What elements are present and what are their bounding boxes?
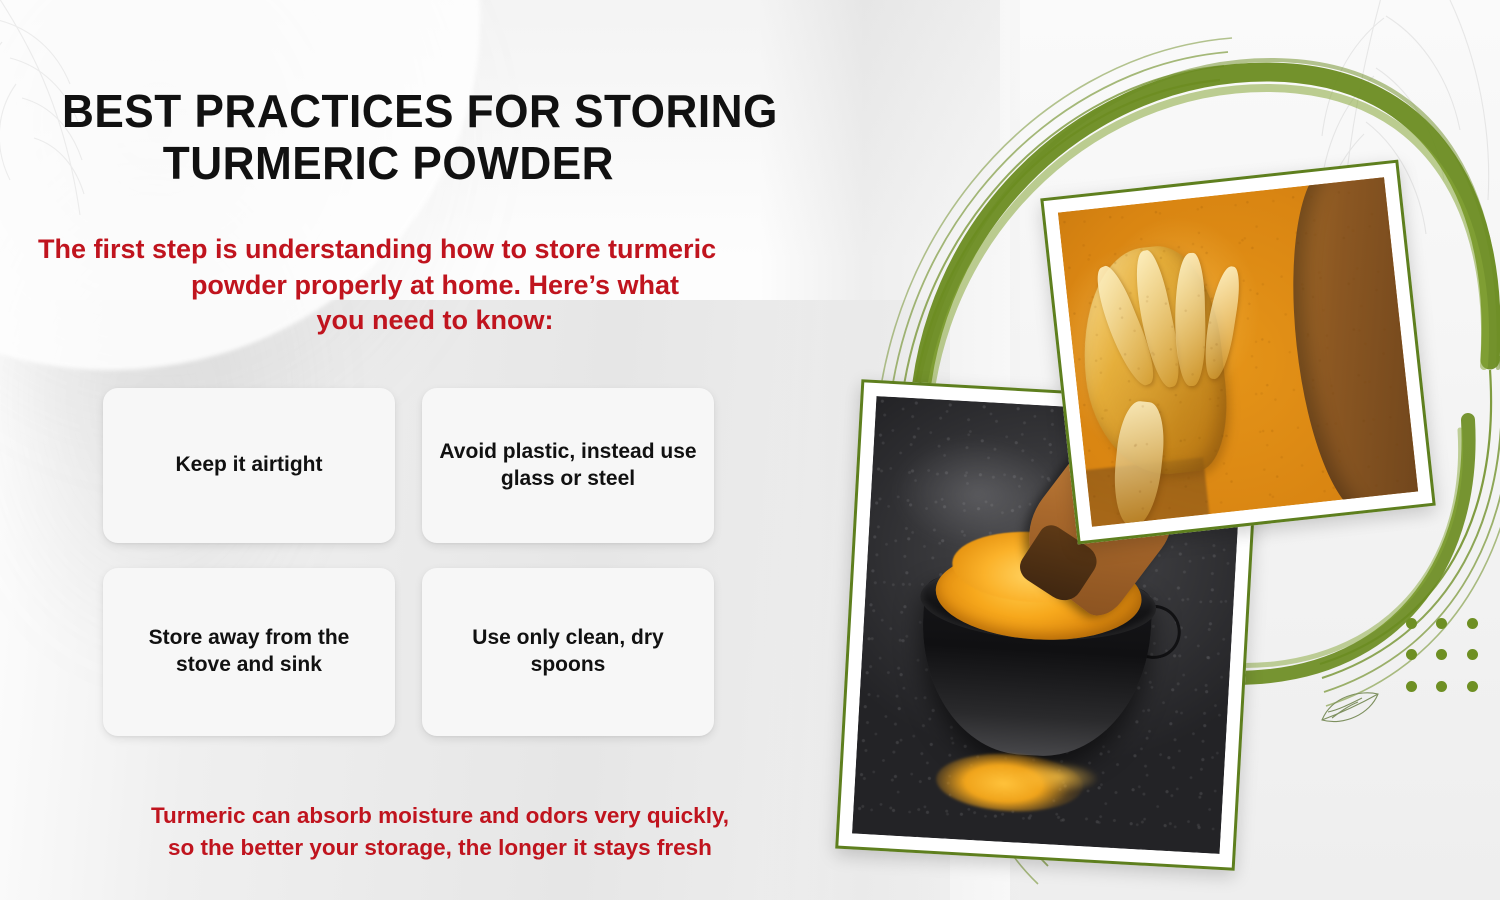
subheading: The first step is understanding how to s… bbox=[30, 232, 840, 339]
tip-card-label: Store away from the stove and sink bbox=[119, 625, 379, 679]
tip-card-label: Use only clean, dry spoons bbox=[438, 625, 698, 679]
tip-card-label: Avoid plastic, instead use glass or stee… bbox=[438, 439, 698, 493]
page-title-line-1: BEST PRACTICES FOR STORING bbox=[62, 86, 820, 138]
page-title-line-2: TURMERIC POWDER bbox=[62, 138, 820, 190]
subheading-line-2: powder properly at home. Here’s what bbox=[30, 268, 840, 304]
tip-card[interactable]: Avoid plastic, instead use glass or stee… bbox=[422, 388, 714, 543]
subheading-line-1: The first step is understanding how to s… bbox=[30, 232, 840, 268]
tip-card[interactable]: Keep it airtight bbox=[103, 388, 395, 543]
tip-card-label: Keep it airtight bbox=[175, 452, 322, 479]
photo-turmeric-wooden-bowl-image bbox=[1058, 177, 1418, 527]
footnote-line-1: Turmeric can absorb moisture and odors v… bbox=[40, 800, 840, 832]
leaf-outline-icon bbox=[1318, 688, 1382, 728]
infographic-canvas: BEST PRACTICES FOR STORING TURMERIC POWD… bbox=[0, 0, 1500, 900]
subheading-line-3: you need to know: bbox=[30, 303, 840, 339]
dot-grid-decoration bbox=[1406, 618, 1478, 692]
tip-card[interactable]: Use only clean, dry spoons bbox=[422, 568, 714, 736]
photo-turmeric-wooden-bowl bbox=[1040, 160, 1435, 545]
tips-card-grid: Keep it airtight Avoid plastic, instead … bbox=[103, 388, 718, 736]
footnote-line-2: so the better your storage, the longer i… bbox=[40, 832, 840, 864]
page-title: BEST PRACTICES FOR STORING TURMERIC POWD… bbox=[62, 86, 820, 189]
tip-card[interactable]: Store away from the stove and sink bbox=[103, 568, 395, 736]
artwork-area bbox=[800, 0, 1500, 900]
footnote: Turmeric can absorb moisture and odors v… bbox=[40, 800, 840, 864]
